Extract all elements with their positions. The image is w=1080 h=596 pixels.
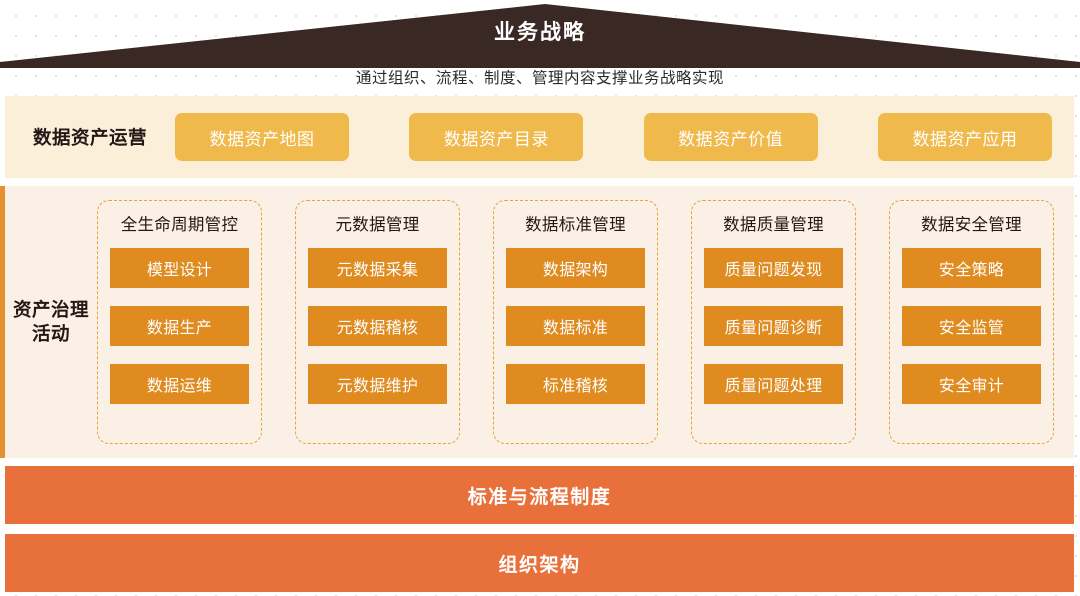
business-strategy-subtitle: 通过组织、流程、制度、管理内容支撑业务战略实现 xyxy=(0,66,1080,88)
governance-column-title: 全生命周期管控 xyxy=(110,211,249,235)
governance-column-data-standard[interactable]: 数据标准管理 数据架构 数据标准 标准稽核 xyxy=(493,200,658,444)
governance-column-data-quality[interactable]: 数据质量管理 质量问题发现 质量问题诊断 质量问题处理 xyxy=(691,200,856,444)
ops-box-asset-map[interactable]: 数据资产地图 xyxy=(175,113,349,161)
foundation-bar-standards-and-process: 标准与流程制度 xyxy=(5,466,1074,524)
governance-item-metadata-collection[interactable]: 元数据采集 xyxy=(308,248,447,288)
governance-item-model-design[interactable]: 模型设计 xyxy=(110,248,249,288)
governance-column-title: 数据质量管理 xyxy=(704,211,843,235)
governance-column-title: 数据标准管理 xyxy=(506,211,645,235)
governance-item-security-audit[interactable]: 安全审计 xyxy=(902,364,1041,404)
business-strategy-title: 业务战略 xyxy=(0,16,1080,46)
asset-governance-activities-band: 资产治理活动 全生命周期管控 模型设计 数据生产 数据运维 元数据管理 元数据采… xyxy=(0,186,1074,458)
governance-item-security-policy[interactable]: 安全策略 xyxy=(902,248,1041,288)
governance-item-standard-audit[interactable]: 标准稽核 xyxy=(506,364,645,404)
governance-item-quality-discovery[interactable]: 质量问题发现 xyxy=(704,248,843,288)
governance-column-metadata[interactable]: 元数据管理 元数据采集 元数据稽核 元数据维护 xyxy=(295,200,460,444)
governance-item-quality-diagnosis[interactable]: 质量问题诊断 xyxy=(704,306,843,346)
governance-item-metadata-maintenance[interactable]: 元数据维护 xyxy=(308,364,447,404)
governance-item-data-production[interactable]: 数据生产 xyxy=(110,306,249,346)
governance-item-metadata-audit[interactable]: 元数据稽核 xyxy=(308,306,447,346)
governance-item-quality-resolution[interactable]: 质量问题处理 xyxy=(704,364,843,404)
governance-item-data-architecture[interactable]: 数据架构 xyxy=(506,248,645,288)
data-asset-operations-label: 数据资产运营 xyxy=(5,124,175,150)
data-asset-operations-band: 数据资产运营 数据资产地图 数据资产目录 数据资产价值 数据资产应用 xyxy=(5,96,1074,178)
governance-column-title: 元数据管理 xyxy=(308,211,447,235)
data-governance-framework-diagram: 业务战略 通过组织、流程、制度、管理内容支撑业务战略实现 数据资产运营 数据资产… xyxy=(0,0,1080,596)
governance-column-lifecycle[interactable]: 全生命周期管控 模型设计 数据生产 数据运维 xyxy=(97,200,262,444)
governance-column-data-security[interactable]: 数据安全管理 安全策略 安全监管 安全审计 xyxy=(889,200,1054,444)
ops-box-asset-catalog[interactable]: 数据资产目录 xyxy=(409,113,583,161)
governance-column-title: 数据安全管理 xyxy=(902,211,1041,235)
foundation-bar-organization-structure: 组织架构 xyxy=(5,534,1074,592)
data-asset-operations-box-list: 数据资产地图 数据资产目录 数据资产价值 数据资产应用 xyxy=(175,113,1074,161)
governance-item-data-standard[interactable]: 数据标准 xyxy=(506,306,645,346)
governance-column-list: 全生命周期管控 模型设计 数据生产 数据运维 元数据管理 元数据采集 元数据稽核… xyxy=(97,186,1074,458)
ops-box-asset-value[interactable]: 数据资产价值 xyxy=(644,113,818,161)
asset-governance-activities-label: 资产治理活动 xyxy=(5,298,97,345)
governance-item-security-supervision[interactable]: 安全监管 xyxy=(902,306,1041,346)
governance-item-data-operations[interactable]: 数据运维 xyxy=(110,364,249,404)
ops-box-asset-application[interactable]: 数据资产应用 xyxy=(878,113,1052,161)
